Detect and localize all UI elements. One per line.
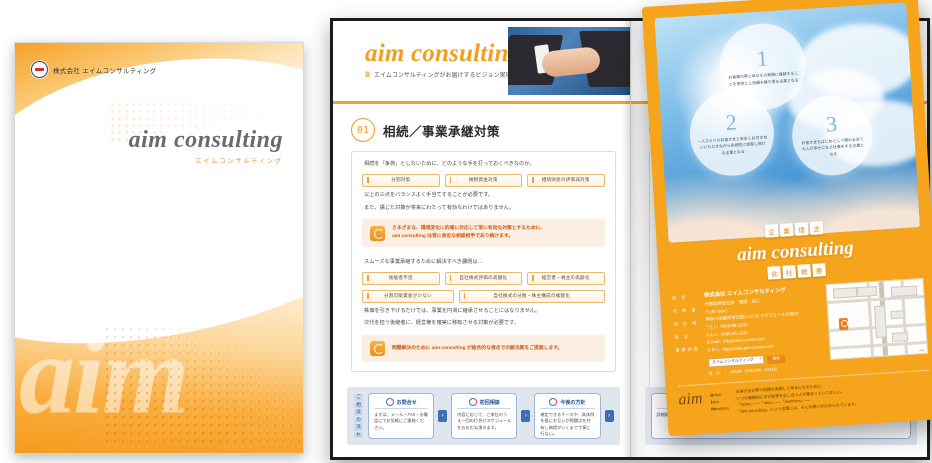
- section-01: 01 相続／事業承継対策 相続を「争族」としないために、どのような手を打っておく…: [333, 104, 630, 372]
- screenshot-root: aim 株式会社 エイムコンサルティング aim consulting エイムコ…: [0, 0, 932, 463]
- flow-step-title: 初回相談: [480, 399, 500, 406]
- highlight-note-1-text: さまざまな、環境変化に的確に対応して常に有効な対策とするために、 aim con…: [392, 225, 545, 240]
- philosophy-number: 1: [756, 47, 768, 70]
- flow-step-body: 確定できるケースや、具体例を基にお互いが問題点を共有し納得がいくまで丁寧に行ない…: [540, 412, 594, 437]
- acronym-item: idea: [711, 398, 729, 405]
- philosophy-number: 3: [825, 113, 837, 136]
- spread-left-page: aim consulting 》》エイムコンサルティングがお届けするビジョン実現…: [333, 21, 631, 457]
- measure-button[interactable]: 納税資金対策: [445, 174, 523, 187]
- tab-char: 理: [795, 222, 809, 236]
- issue-button-label: 自社株式評価の高額化: [459, 275, 507, 281]
- issue-button[interactable]: 自社株式の分散・株主構成の複雑化: [459, 290, 605, 303]
- info-label: 事業内容: [675, 346, 701, 354]
- search-button[interactable]: 検索: [767, 354, 785, 363]
- acronym-word: embers: [715, 405, 729, 411]
- info-label: 代 表 者: [673, 307, 699, 315]
- info-label: 商 号: [672, 294, 698, 302]
- measure-button-label: 分割対策: [391, 177, 410, 183]
- section-title: 相続／事業承継対策: [383, 121, 500, 140]
- note-line-2: aim consulting は常に身近な相談相手であり続けます。: [392, 234, 513, 239]
- brochure-cover: aim 株式会社 エイムコンサルティング aim consulting エイムコ…: [14, 42, 304, 454]
- issue-button[interactable]: 後継者不足: [362, 272, 440, 285]
- company-profile-card: 1 お客様の夢と幸せその実現に貢献することを使命とし信頼を勝ち得る企業となる 2…: [642, 0, 932, 436]
- cover-dot-pattern-bottom: [103, 325, 304, 445]
- philosophy-text: お客さまをはじめとして関わる全ての人が幸せになる仕事をする企業となる: [792, 136, 873, 160]
- measure-button[interactable]: 相続財産の評価減対策: [527, 174, 605, 187]
- flow-step-header: 今後の方針: [540, 398, 594, 409]
- aim-dot-icon: [549, 398, 557, 406]
- lead-text-3: また、講じた対策が将来にわたって有効なわけではありません。: [364, 205, 605, 213]
- flow-label-char: ご: [354, 394, 363, 401]
- handshake-photo: [508, 27, 630, 95]
- map-building: [857, 286, 878, 297]
- flow-step-title: お問合せ: [397, 399, 417, 406]
- cover-logo: 株式会社 エイムコンサルティング: [31, 61, 157, 78]
- tab-char: 概: [797, 264, 811, 278]
- philosophy-text: お客様の夢と幸せその実現に貢献することを使命とし信頼を勝ち得る企業となる: [720, 70, 807, 88]
- issue-button[interactable]: 自社株式評価の高額化: [445, 272, 523, 285]
- company-info-labels: 商 号 代 表 者 所 在 地 設 立 事業内容: [672, 292, 703, 379]
- lead-text-4: スムーズな事業承継するために解決すべき課題は…: [364, 259, 605, 267]
- aim-badge-icon: [370, 341, 385, 356]
- issue-button-label: 後継者不足: [389, 275, 413, 281]
- issue-button-label: 経営者・株主の高齢化: [542, 275, 590, 281]
- company-info-values: 株式会社 エイムコンサルティング 代表取締役社長 栗田 裕人 〒251-0047…: [704, 284, 825, 376]
- chevron-icon: 》》: [365, 73, 372, 79]
- issue-button-label: 自社株式の分散・株主構成の複雑化: [493, 293, 570, 299]
- aim-dot-icon: [469, 398, 477, 406]
- flow-label-char: の: [354, 417, 363, 424]
- flow-step-body: 内容に応じて、ご来社のうえ一回の打合せスケジュールをおおむね頂きます。: [457, 412, 511, 431]
- info-label: 設 立: [674, 333, 700, 341]
- flow-step-body: まずは、メール・FAX・お電話にてお気軽にご連絡ください。: [374, 412, 428, 431]
- search-input[interactable]: エイムコンサルティング: [708, 355, 765, 368]
- tab-char: 企: [765, 224, 779, 238]
- lead-text-1: 相続を「争族」としないために、どのような手を打っておくべきなのか。: [364, 161, 605, 169]
- acronym-word: dea: [712, 399, 719, 404]
- measure-button-row-3: 分割可能資産が少ない 自社株式の分散・株主構成の複雑化: [362, 290, 605, 303]
- info-label: 所 在 地: [674, 320, 700, 328]
- book-gutter: [622, 21, 638, 457]
- map-building: [892, 332, 909, 342]
- tab-char: 要: [812, 263, 826, 277]
- flow-step[interactable]: 今後の方針 確定できるケースや、具体例を基にお互いが問題点を共有し納得がいくまで…: [534, 393, 600, 439]
- flow-arrow-icon: ›: [438, 410, 447, 422]
- flow-step-header: 初回相談: [457, 398, 511, 409]
- tab-char: 業: [780, 223, 794, 237]
- map-station: [874, 305, 887, 338]
- flow-step-title: 今後の方針: [560, 399, 585, 406]
- acronym-description: お客さまが夢や目標を実現して幸せになるために、 いつも積極的に学び知恵を出し合う…: [736, 377, 931, 416]
- flow-label-char: 流: [354, 424, 363, 431]
- measure-button-row-1: 分割対策 納税資金対策 相続財産の評価減対策: [362, 174, 605, 187]
- tab-char: 念: [810, 221, 824, 235]
- cover-title-jp: エイムコンサルティング: [129, 156, 283, 165]
- measure-button[interactable]: 分割対策: [362, 174, 440, 187]
- location-map[interactable]: MAP: [826, 278, 929, 360]
- flow-label-char: 談: [354, 409, 363, 416]
- measure-button-label: 納税資金対策: [469, 177, 498, 183]
- issue-button-label: 分割可能資産が少ない: [384, 293, 432, 299]
- map-location-pin-icon: [839, 318, 849, 331]
- measure-button-row-2: 後継者不足 自社株式評価の高額化 経営者・株主の高齢化: [362, 272, 605, 285]
- highlight-note-2: 問題解決のために aim consulting が総合的な視点での解決策をご提案…: [362, 335, 605, 362]
- flow-label-char: 相: [354, 402, 363, 409]
- section-number: 01: [351, 118, 375, 142]
- cover-title-block: aim consulting エイムコンサルティング: [129, 127, 283, 165]
- page-banner: aim consulting 》》エイムコンサルティングがお届けするビジョン実現…: [333, 21, 630, 104]
- flow-step[interactable]: お問合せ まずは、メール・FAX・お電話にてお気軽にご連絡ください。: [368, 393, 434, 439]
- map-building: [890, 310, 904, 319]
- flow-step[interactable]: 初回相談 内容に応じて、ご来社のうえ一回の打合せスケジュールをおおむね頂きます。: [451, 393, 517, 439]
- flow-arrow-icon: ›: [605, 410, 614, 422]
- tab-char: 社: [782, 265, 796, 279]
- acronym-footer: aim active idea members お客さまが夢や目標を実現して幸せ…: [678, 370, 932, 419]
- note-line-1: さまざまな、環境変化に的確に対応して常に有効な対策とするために、: [392, 226, 545, 231]
- company-info: 商 号 代 表 者 所 在 地 設 立 事業内容 株式会社 エイムコンサルティン…: [672, 278, 929, 379]
- flow-step-header: お問合せ: [374, 398, 428, 409]
- acronym-list: active idea members: [710, 390, 729, 418]
- flow-arrow-icon: ›: [521, 410, 530, 422]
- acronym-item: active: [710, 392, 728, 399]
- issue-button[interactable]: 経営者・株主の高齢化: [527, 272, 605, 285]
- cover-title-en: aim consulting: [129, 127, 283, 154]
- measure-button-label: 相続財産の評価減対策: [542, 177, 590, 183]
- philosophy-number: 2: [725, 111, 737, 134]
- section-card: 相続を「争族」としないために、どのような手を打っておくべきなのか。 分割対策 納…: [351, 151, 616, 372]
- lead-text-6: 次代を担う後継者に、経営権を確実に移転させる対策が必要です。: [364, 320, 605, 328]
- lead-text-5: 株価を引き下げるだけでは、事業を円滑に継承させることにはなりません。: [364, 308, 605, 316]
- aim-dot-icon: [386, 398, 394, 406]
- flow-vertical-label: ご 相 談 の 流 れ: [353, 393, 364, 439]
- aim-logo-icon: [31, 61, 48, 78]
- highlight-note-1: さまざまな、環境変化に的確に対応して常に有効な対策とするために、 aim con…: [362, 219, 605, 246]
- map-building: [833, 287, 858, 298]
- lead-text-2: 以上の三点をバランスよく手当てすることが必要です。: [364, 192, 605, 200]
- map-building: [891, 285, 918, 297]
- flow-label-char: れ: [354, 432, 363, 439]
- acronym-word: ctive: [713, 392, 722, 398]
- tab-char: 会: [767, 266, 781, 280]
- acronym-item: members: [711, 405, 729, 412]
- map-road-horizontal: [830, 341, 926, 350]
- consultation-flow: ご 相 談 の 流 れ お問合せ まずは、メール・FAX・お電話にてお気軽にご連…: [347, 387, 620, 445]
- philosophy-sky-photo: 1 お客様の夢と幸せその実現に貢献することを使命とし信頼を勝ち得る企業となる 2…: [655, 2, 921, 242]
- issue-button[interactable]: 分割可能資産が少ない: [362, 290, 454, 303]
- acronym-mark: aim: [678, 391, 704, 419]
- map-label: MAP: [919, 349, 925, 352]
- cover-company-name: 株式会社 エイムコンサルティング: [53, 65, 157, 75]
- highlight-note-2-text: 問題解決のために aim consulting が総合的な視点での解決策をご提案…: [392, 345, 562, 353]
- aim-badge-icon: [370, 226, 385, 241]
- section-header: 01 相続／事業承継対策: [351, 118, 616, 142]
- philosophy-text: 一人ひとりのお客さまと末永くお付き合いいただきながら永続的に成長し続ける企業とな…: [690, 134, 775, 159]
